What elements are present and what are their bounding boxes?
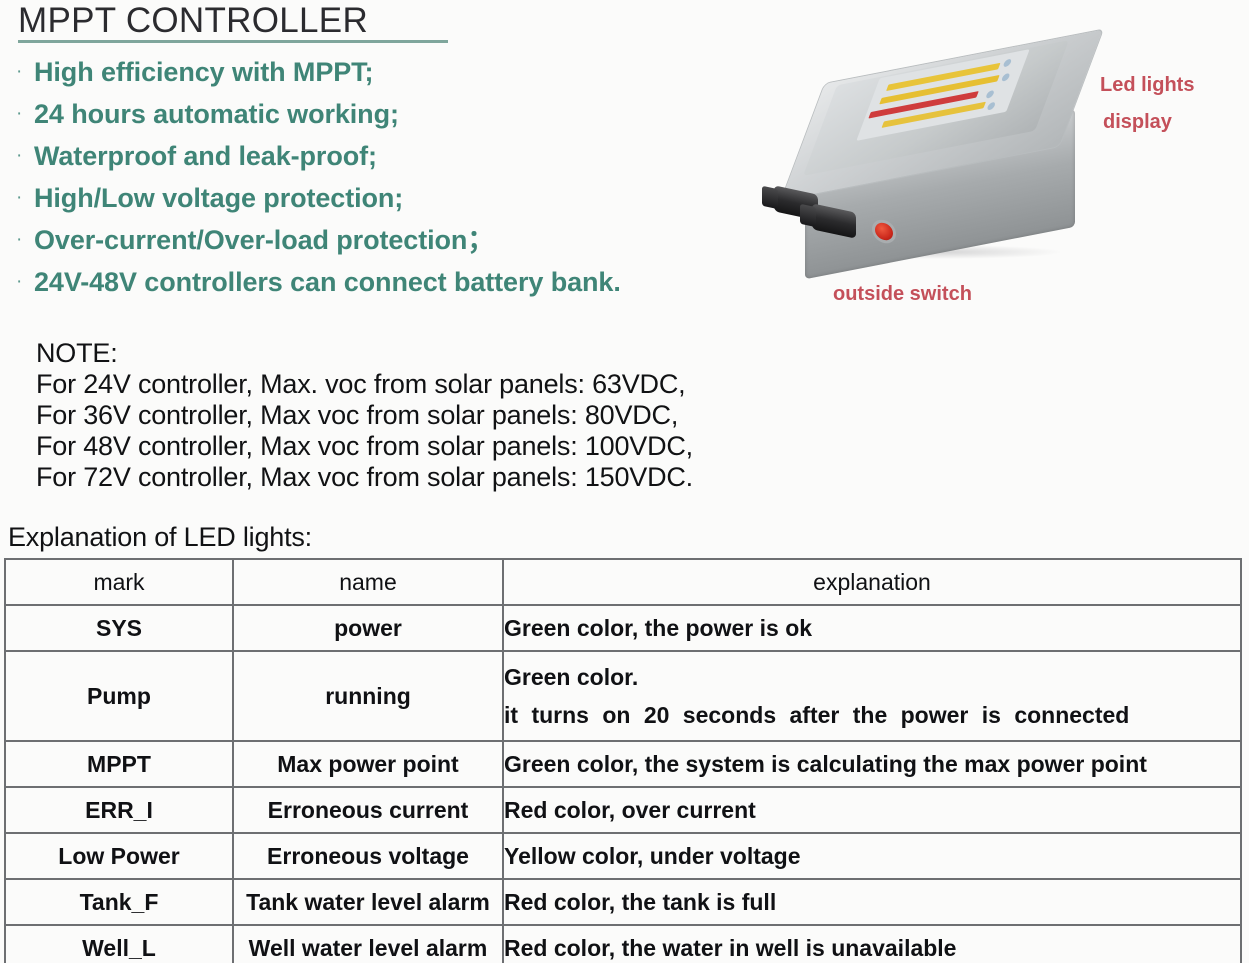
table-row: MPPT Max power point Green color, the sy… (5, 741, 1241, 787)
led-indicator-icon (1002, 59, 1012, 68)
column-header-name: name (233, 559, 503, 605)
feature-text: 24 hours automatic working; (34, 94, 399, 134)
bullet-dot-icon: · (16, 178, 34, 218)
cable-gland-cap (800, 204, 816, 227)
callout-outside-switch: outside switch (833, 283, 972, 306)
cell-mark: Pump (5, 651, 233, 741)
note-line: For 36V controller, Max voc from solar p… (36, 400, 856, 431)
cell-mark: Tank_F (5, 879, 233, 925)
cell-explanation: Green color, the system is calculating t… (503, 741, 1241, 787)
column-header-mark: mark (5, 559, 233, 605)
bullet-dot-icon: · (16, 262, 34, 302)
bullet-dot-icon: · (16, 220, 34, 260)
table-row: Tank_F Tank water level alarm Red color,… (5, 879, 1241, 925)
bullet-dot-icon: · (16, 136, 34, 176)
feature-item: · 24V-48V controllers can connect batter… (16, 262, 716, 304)
feature-text: Over-current/Over-load protection； (34, 220, 494, 260)
cell-name: Max power point (233, 741, 503, 787)
cell-name: Erroneous current (233, 787, 503, 833)
feature-item: · High/Low voltage protection; (16, 178, 716, 220)
cell-mark: Low Power (5, 833, 233, 879)
led-indicator-icon (986, 102, 996, 111)
cell-mark: ERR_I (5, 787, 233, 833)
cell-explanation-line1: Green color. (504, 658, 1240, 696)
feature-item: · Over-current/Over-load protection； (16, 220, 716, 262)
cell-name: running (233, 651, 503, 741)
led-explanation-table: mark name explanation SYS power Green co… (4, 558, 1242, 963)
table-caption: Explanation of LED lights: (8, 521, 312, 553)
cell-name: Tank water level alarm (233, 879, 503, 925)
feature-item: · Waterproof and leak-proof; (16, 136, 716, 178)
cell-explanation: Green color. it turns on 20 seconds afte… (503, 651, 1241, 741)
feature-item: · High efficiency with MPPT; (16, 52, 716, 94)
page-title: MPPT CONTROLLER (18, 2, 488, 40)
callout-led-lights-line1: Led lights (1100, 74, 1194, 97)
table-row: Low Power Erroneous voltage Yellow color… (5, 833, 1241, 879)
note-block: NOTE: For 24V controller, Max. voc from … (36, 338, 856, 493)
cell-explanation: Red color, the tank is full (503, 879, 1241, 925)
bullet-dot-icon: · (16, 52, 34, 92)
cell-explanation: Red color, the water in well is unavaila… (503, 925, 1241, 963)
title-underline-rule (18, 40, 448, 43)
cell-name: Erroneous voltage (233, 833, 503, 879)
feature-item: · 24 hours automatic working; (16, 94, 716, 136)
cell-explanation: Green color, the power is ok (503, 605, 1241, 651)
note-line: For 72V controller, Max voc from solar p… (36, 462, 856, 493)
cell-explanation: Yellow color, under voltage (503, 833, 1241, 879)
cell-explanation: Red color, over current (503, 787, 1241, 833)
feature-text: High/Low voltage protection; (34, 178, 403, 218)
feature-text: High efficiency with MPPT; (34, 52, 373, 92)
note-heading: NOTE: (36, 338, 856, 369)
table-row: SYS power Green color, the power is ok (5, 605, 1241, 651)
cell-name: Well water level alarm (233, 925, 503, 963)
table-header-row: mark name explanation (5, 559, 1241, 605)
table-row: Well_L Well water level alarm Red color,… (5, 925, 1241, 963)
product-spec-page: MPPT CONTROLLER · High efficiency with M… (0, 0, 1249, 963)
cell-mark: SYS (5, 605, 233, 651)
bullet-dot-icon: · (16, 94, 34, 134)
led-indicator-icon (1001, 73, 1011, 82)
table-row: ERR_I Erroneous current Red color, over … (5, 787, 1241, 833)
cell-explanation-line2: it turns on 20 seconds after the power i… (504, 696, 1240, 734)
led-indicator-icon (985, 90, 995, 99)
callout-led-lights-line2: display (1103, 111, 1172, 134)
note-line: For 24V controller, Max. voc from solar … (36, 369, 856, 400)
column-header-explanation: explanation (503, 559, 1241, 605)
cable-gland-cap (762, 186, 778, 209)
cell-name: power (233, 605, 503, 651)
title-block: MPPT CONTROLLER (18, 2, 488, 40)
note-line: For 48V controller, Max voc from solar p… (36, 431, 856, 462)
feature-text: 24V-48V controllers can connect battery … (34, 262, 621, 302)
cell-mark: MPPT (5, 741, 233, 787)
cell-mark: Well_L (5, 925, 233, 963)
feature-list: · High efficiency with MPPT; · 24 hours … (16, 52, 716, 304)
feature-text: Waterproof and leak-proof; (34, 136, 377, 176)
table-row: Pump running Green color. it turns on 20… (5, 651, 1241, 741)
